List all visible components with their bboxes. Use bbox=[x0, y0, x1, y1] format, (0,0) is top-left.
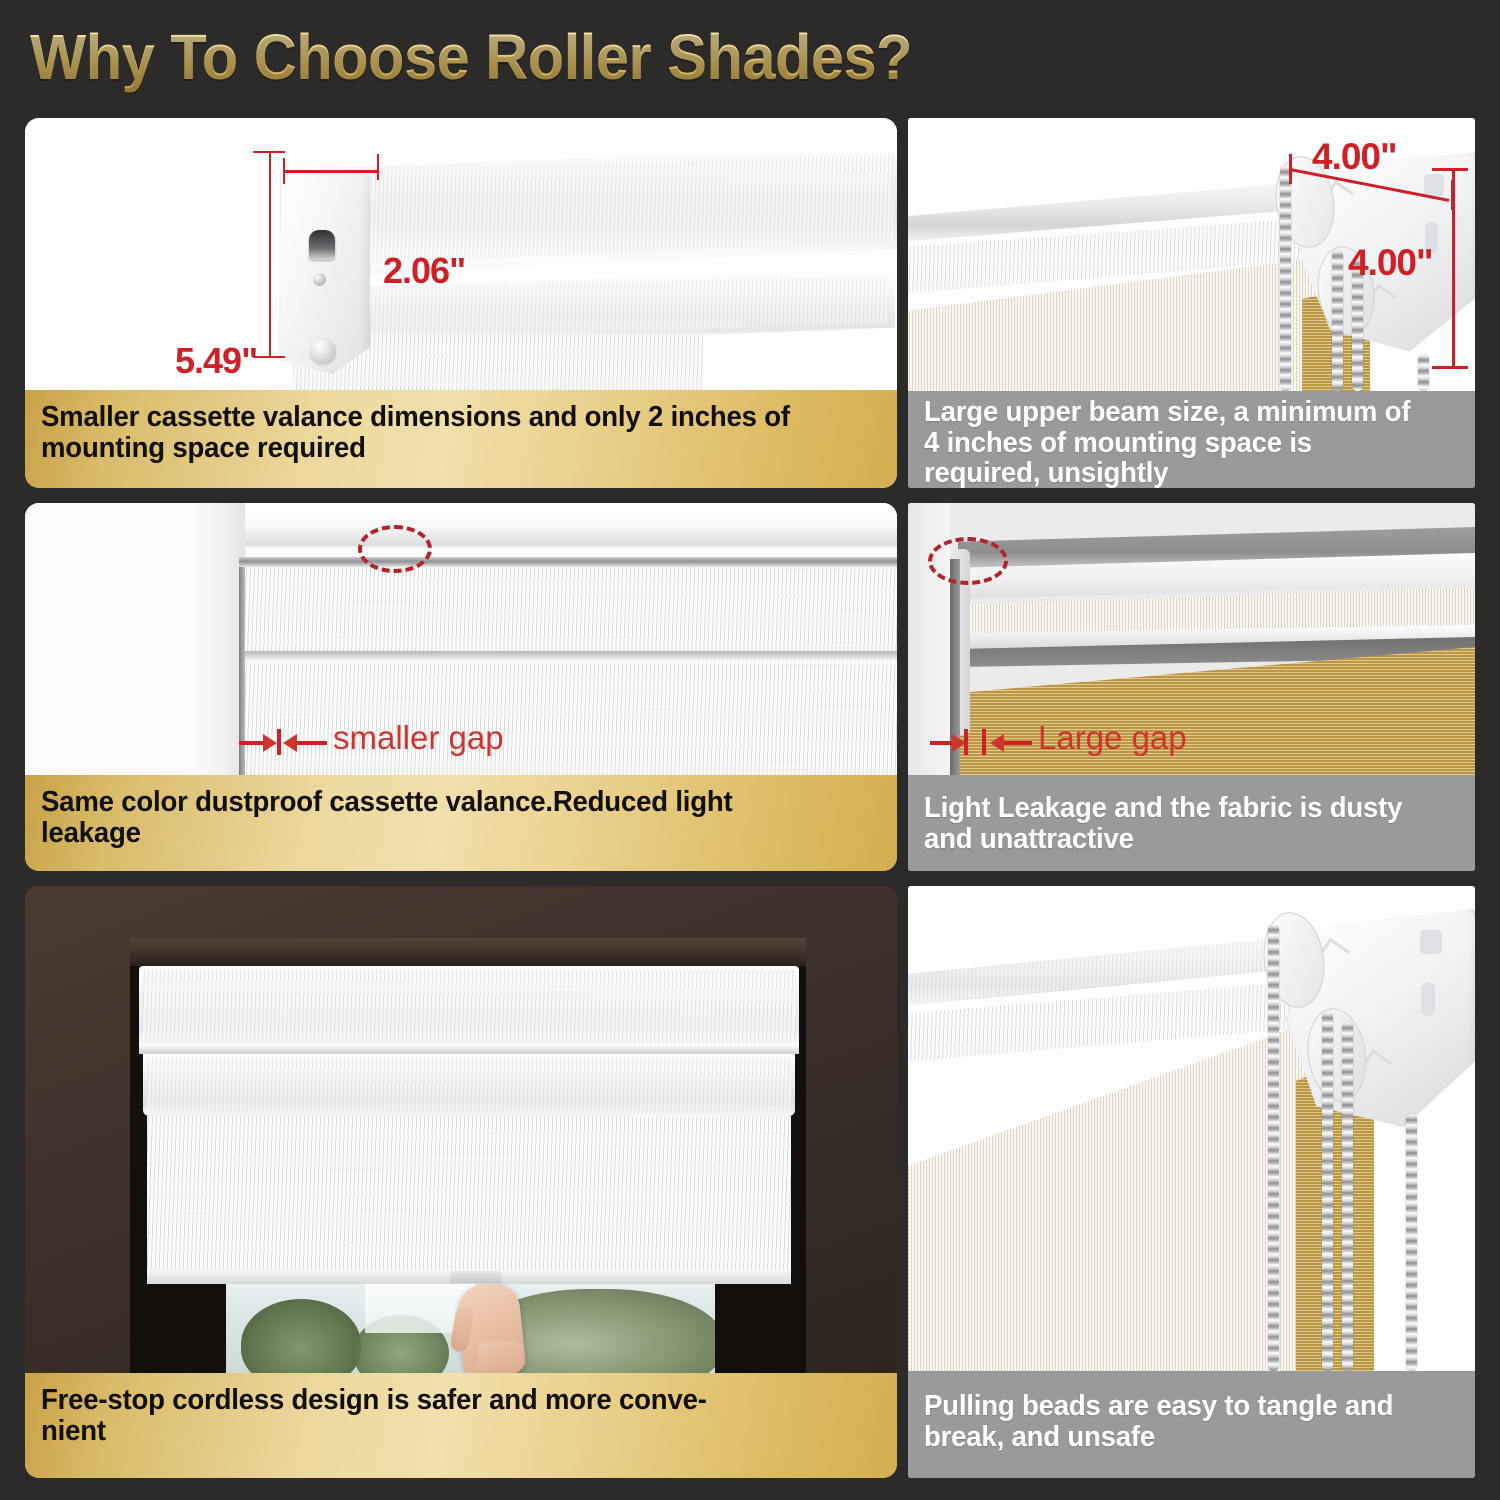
chain-slot-icon bbox=[309, 230, 335, 260]
bead-chain-2 bbox=[1332, 250, 1343, 391]
beam-height-dimension-label: 4.00" bbox=[1348, 242, 1433, 284]
bead-chain-b bbox=[1322, 1012, 1333, 1371]
panel-middle-left-photo: smaller gap bbox=[25, 503, 897, 775]
caption-top-right: Large upper beam size, a minimum of 4 in… bbox=[908, 391, 1475, 488]
panel-top-right: 4.00" 4.00" Large upper beam size, a min… bbox=[908, 118, 1475, 488]
caption-bottom-right: Pulling beads are easy to tangle and bre… bbox=[908, 1371, 1475, 1478]
large-gap-arrow-right-head bbox=[990, 734, 1004, 752]
gap-marker-bar bbox=[277, 729, 281, 755]
valance-bottom-edge bbox=[239, 651, 897, 660]
smaller-gap-label: smaller gap bbox=[333, 719, 504, 757]
bead-chain-4 bbox=[1418, 354, 1429, 391]
panel-top-right-photo: 4.00" 4.00" bbox=[908, 118, 1475, 391]
caption-bottom-right-text: Pulling beads are easy to tangle and bre… bbox=[924, 1391, 1432, 1452]
panel-bottom-right: Pulling beads are easy to tangle and bre… bbox=[908, 886, 1475, 1478]
height-dim-line bbox=[269, 151, 271, 358]
beam-width-dimension-label: 4.00" bbox=[1312, 136, 1397, 178]
width-dim-line bbox=[283, 170, 379, 173]
cassette-box-lip bbox=[139, 1044, 799, 1054]
screw-top-icon bbox=[313, 273, 326, 286]
panel-bottom-left: Free-stop cordless design is safer and m… bbox=[25, 886, 897, 1478]
window-frame-left-outer bbox=[25, 503, 197, 775]
height-dimension-label: 5.49" bbox=[175, 340, 257, 382]
gap-arrow-left-head bbox=[263, 734, 277, 752]
bead-chain-a bbox=[1268, 924, 1279, 1371]
page-title: Why To Choose Roller Shades? bbox=[30, 18, 1053, 96]
outdoor-tree-left bbox=[241, 1299, 361, 1373]
bead-chain-d bbox=[1406, 1114, 1417, 1371]
bracket-slot-b bbox=[1421, 982, 1435, 1016]
caption-top-left: Smaller cassette valance dimensions and … bbox=[25, 390, 897, 488]
cassette-valance-face bbox=[241, 567, 897, 653]
beam-height-dim-line bbox=[1452, 168, 1455, 368]
caption-top-right-text: Large upper beam size, a minimum of 4 in… bbox=[924, 397, 1432, 488]
cassette-box-texture bbox=[143, 970, 795, 1042]
panel-middle-left: smaller gap Same color dustproof cassett… bbox=[25, 503, 897, 871]
gap-highlight-ellipse bbox=[358, 525, 432, 573]
large-gap-arrow-right-shaft bbox=[1004, 741, 1032, 745]
large-gap-marker-bar-1 bbox=[964, 729, 968, 755]
panel-top-left-photo: 5.49" 2.06" bbox=[25, 118, 897, 390]
window-recess-top bbox=[130, 938, 806, 966]
caption-bottom-left-text: Free-stop cordless design is safer and m… bbox=[41, 1385, 707, 1446]
caption-middle-left-text: Same color dustproof cassette valance.Re… bbox=[41, 787, 839, 848]
screw-bottom-icon bbox=[310, 338, 336, 364]
shade-pull-tab bbox=[450, 1271, 502, 1283]
bracket-slot-a bbox=[1420, 930, 1442, 954]
width-dim-tick-right bbox=[377, 154, 379, 180]
panel-bottom-left-photo bbox=[25, 886, 897, 1373]
caption-top-left-text: Smaller cassette valance dimensions and … bbox=[41, 402, 839, 463]
caption-middle-right-text: Light Leakage and the fabric is dusty an… bbox=[924, 793, 1432, 854]
gap-arrow-left-shaft bbox=[239, 741, 265, 745]
gap-highlight-ellipse-right bbox=[928, 537, 1008, 585]
gap-arrow-right-shaft bbox=[297, 741, 327, 745]
width-dimension-label: 2.06" bbox=[383, 250, 465, 292]
caption-middle-left: Same color dustproof cassette valance.Re… bbox=[25, 775, 897, 871]
height-dim-tick-top bbox=[253, 151, 285, 153]
shade-fabric-bottom-left bbox=[147, 1116, 791, 1284]
window-frame-top-rail bbox=[193, 503, 897, 547]
hand-forearm bbox=[477, 1341, 523, 1373]
large-gap-marker-bar-2 bbox=[982, 729, 986, 755]
bead-chain-c bbox=[1342, 1022, 1353, 1371]
panel-bottom-right-photo bbox=[908, 886, 1475, 1371]
caption-middle-right: Light Leakage and the fabric is dusty an… bbox=[908, 775, 1475, 871]
beam-height-tick-top bbox=[1432, 168, 1468, 171]
window-frame-left-jamb bbox=[193, 503, 245, 775]
panel-top-left: 5.49" 2.06" Smaller cassette valance dim… bbox=[25, 118, 897, 488]
large-gap-arrow-left-shaft bbox=[930, 741, 954, 745]
gap-arrow-right-head bbox=[283, 734, 297, 752]
headrail bbox=[239, 557, 897, 567]
caption-bottom-left: Free-stop cordless design is safer and m… bbox=[25, 1373, 897, 1478]
beam-height-tick-bottom bbox=[1432, 366, 1468, 369]
width-dim-tick-left bbox=[283, 158, 285, 184]
roller-cylinder-texture bbox=[147, 1058, 791, 1110]
bead-chain-1 bbox=[1280, 166, 1291, 391]
bracket-slot-1 bbox=[1424, 174, 1444, 196]
large-gap-label: Large gap bbox=[1038, 719, 1187, 757]
height-dim-tick-bottom bbox=[253, 356, 285, 358]
beam-width-tick-left bbox=[1289, 154, 1292, 184]
infographic-root: Why To Choose Roller Shades? 5.49" bbox=[0, 0, 1500, 1500]
panel-middle-right: Large gap Light Leakage and the fabric i… bbox=[908, 503, 1475, 871]
panel-middle-right-photo: Large gap bbox=[908, 503, 1475, 775]
